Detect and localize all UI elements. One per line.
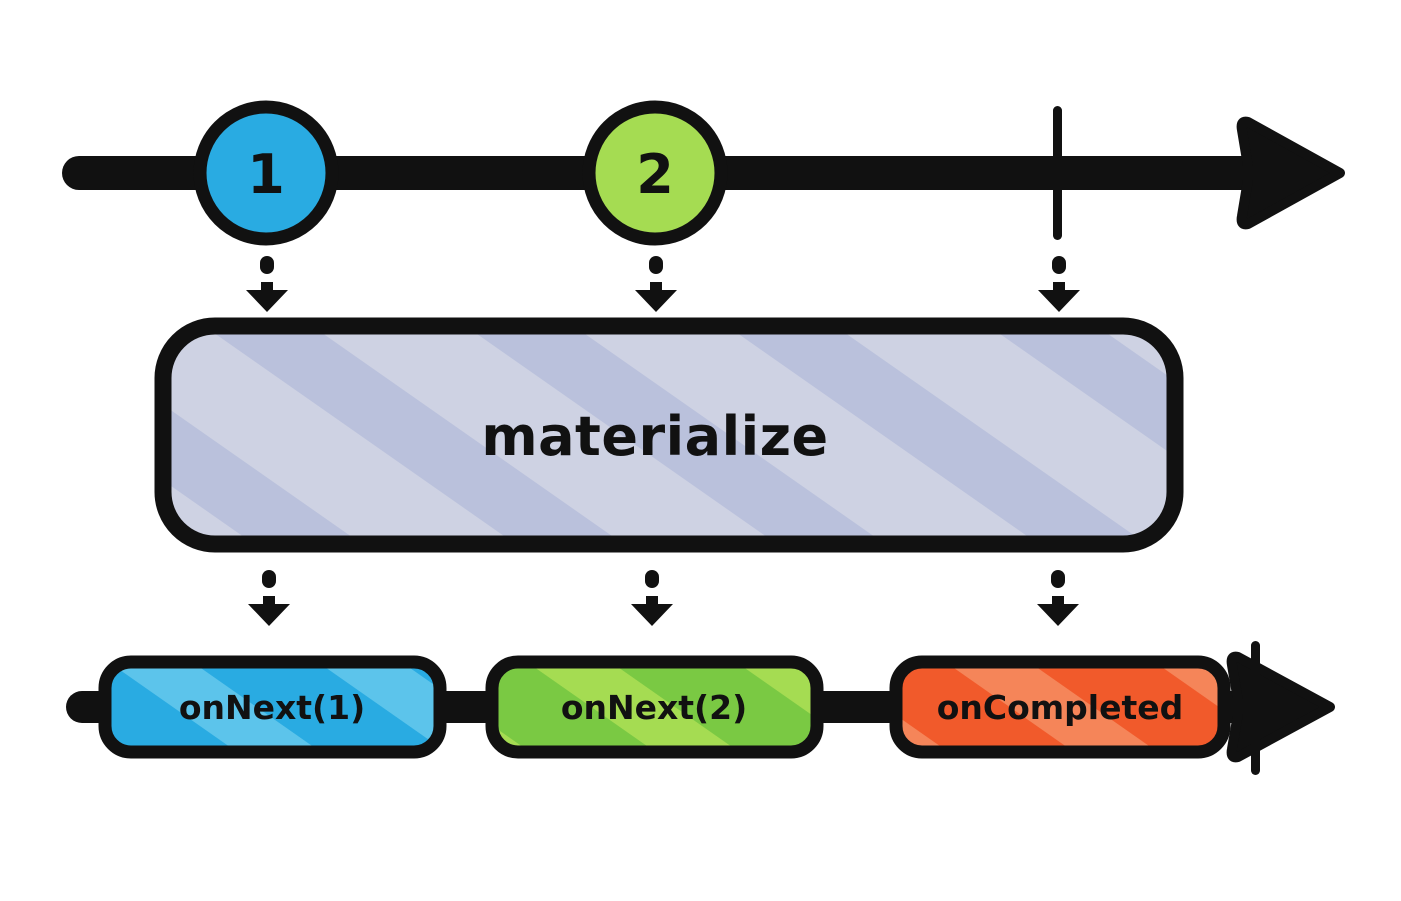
arrow-head [1037, 596, 1079, 626]
arrow-dot [645, 570, 659, 588]
arrow-dot [260, 256, 274, 274]
arrow-dot [1051, 570, 1065, 588]
notification-label: onNext(1) [179, 688, 365, 727]
source-completion-bar-icon [1053, 106, 1062, 240]
arrow-head [631, 596, 673, 626]
dashed-down-arrow-6 [1037, 570, 1079, 626]
notification-pill-onnext-1[interactable]: onNext(1) [105, 662, 440, 752]
marble-value-label: 1 [247, 143, 285, 206]
marble-diagram-canvas: 1 2 materialize [0, 0, 1401, 901]
notification-label: onNext(2) [561, 688, 747, 727]
arrow-dot [649, 256, 663, 274]
source-marble-1[interactable]: 1 [200, 107, 332, 239]
connectors-into-operator [246, 256, 1080, 312]
connectors-out-of-operator [248, 570, 1079, 626]
arrow-dot [262, 570, 276, 588]
dashed-down-arrow-2 [635, 256, 677, 312]
dashed-down-arrow-4 [248, 570, 290, 626]
arrow-head [246, 282, 288, 312]
marble-value-label: 2 [636, 143, 674, 206]
arrow-head [635, 282, 677, 312]
notification-label: onCompleted [937, 688, 1184, 727]
diagram-svg: 1 2 materialize [0, 0, 1401, 901]
dashed-down-arrow-1 [246, 256, 288, 312]
result-timeline-right-arrow-icon [1232, 657, 1330, 758]
operator-box[interactable]: materialize [163, 326, 1175, 544]
arrow-head [248, 596, 290, 626]
result-completion-bar-icon [1251, 641, 1260, 775]
source-timeline-right-arrow-icon [1242, 122, 1340, 225]
notification-pill-oncompleted[interactable]: onCompleted [896, 662, 1224, 752]
source-marble-2[interactable]: 2 [589, 107, 721, 239]
notification-pill-onnext-2[interactable]: onNext(2) [492, 662, 817, 752]
arrow-head [1038, 282, 1080, 312]
dashed-down-arrow-5 [631, 570, 673, 626]
operator-label: materialize [481, 405, 828, 468]
arrow-dot [1052, 256, 1066, 274]
dashed-down-arrow-3 [1038, 256, 1080, 312]
